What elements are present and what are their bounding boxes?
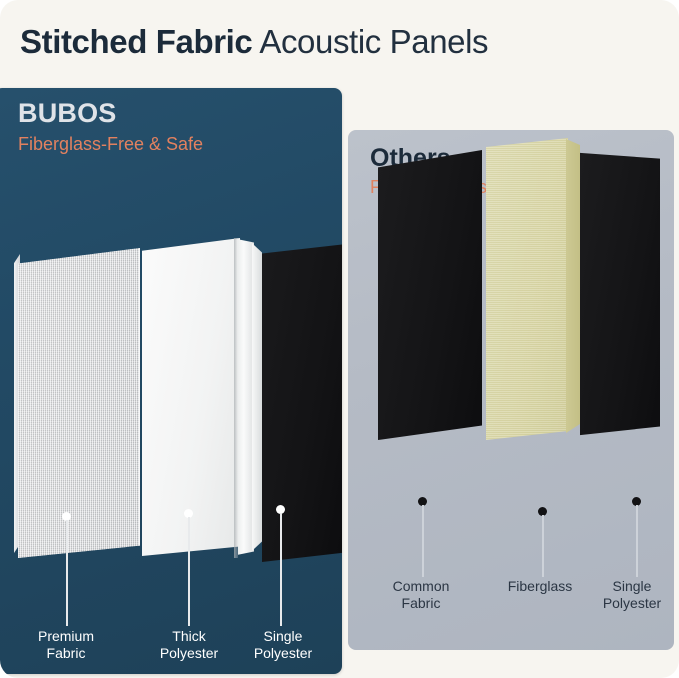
bubos-layer-single-polyester [262,244,342,562]
bubos-brand-label: BUBOS [18,96,318,130]
bubos-layer-thick-polyester-groove [234,238,238,558]
others-caption-fiberglass: Fiberglass [488,578,592,595]
bubos-layer-thick-polyester-edge [238,236,254,558]
bubos-caption-premium-fabric: Premium Fabric [12,628,120,662]
marker-leader-line [280,513,282,626]
marker-leader-line [542,515,544,577]
others-layer-fiberglass-edge [566,136,580,436]
page-title: Stitched Fabric Acoustic Panels [20,22,670,62]
others-layer-common-fabric [378,150,482,440]
others-layer-fiberglass [486,138,568,440]
bubos-layer-thick-polyester-edge-back [252,240,262,554]
bubos-card-header: BUBOS Fiberglass-Free & Safe [18,96,318,157]
bubos-tagline: Fiberglass-Free & Safe [18,131,318,157]
marker-leader-line [66,520,68,626]
others-card: Others Fiberglass poses health risks Com… [348,130,674,650]
infographic-canvas: Stitched Fabric Acoustic Panels BUBOS Fi… [0,0,679,678]
marker-leader-line [188,517,190,626]
bubos-caption-single-polyester: Single Polyester [228,628,338,662]
page-title-strong: Stitched Fabric [20,23,252,60]
page-title-light: Acoustic Panels [259,23,488,60]
marker-leader-line [422,505,424,577]
bubos-layer-premium-fabric [18,248,140,558]
bubos-layer-thick-polyester [142,238,240,556]
bubos-card: BUBOS Fiberglass-Free & Safe Premium Fab… [0,88,342,674]
others-caption-single-polyester: Single Polyester [588,578,674,612]
others-layer-single-polyester [580,150,660,438]
others-caption-common-fabric: Common Fabric [368,578,474,612]
marker-leader-line [636,505,638,577]
